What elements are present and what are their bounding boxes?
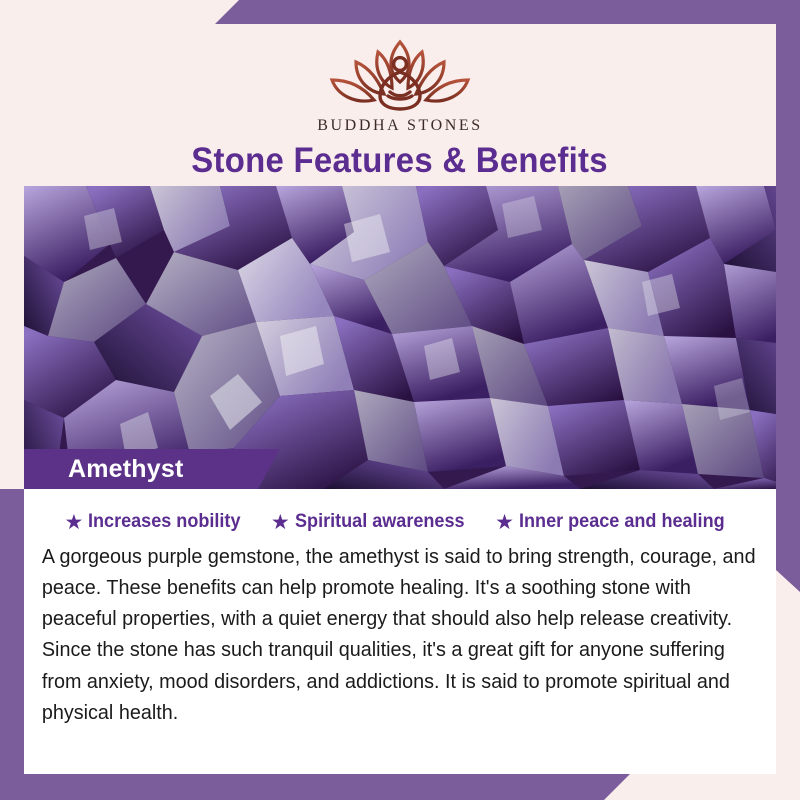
benefits-list: ★ Increases nobility ★ Spiritual awarene… [38,489,762,537]
frame-border-left [0,489,24,800]
stone-description: A gorgeous purple gemstone, the amethyst… [38,541,765,728]
frame-border-top [215,0,800,24]
benefit-item: ★ Spiritual awareness [271,511,473,533]
frame-border-right [776,0,800,592]
content-panel: ★ Increases nobility ★ Spiritual awarene… [24,489,776,774]
brand-logo: BUDDHA STONES [316,30,484,135]
infographic-page: Amethyst [0,0,800,800]
benefit-item: ★ Increases nobility [65,511,249,533]
lotus-meditation-icon [316,30,484,116]
benefit-label: Inner peace and healing [519,511,725,533]
star-icon: ★ [495,512,514,533]
page-title-bar: Stone Features & Benefits [24,141,776,181]
frame-border-bottom [0,774,630,800]
page-header: BUDDHA STONES Stone Features & Benefits [24,24,776,186]
page-title: Stone Features & Benefits [192,141,609,181]
amethyst-hero-image [24,186,800,489]
star-icon: ★ [65,512,84,533]
benefit-label: Spiritual awareness [295,511,465,533]
benefit-label: Increases nobility [88,511,240,533]
brand-name: BUDDHA STONES [317,117,483,135]
crystal-cluster-illustration [24,186,800,489]
star-icon: ★ [271,512,290,533]
stone-name-banner: Amethyst [24,449,280,489]
benefit-item: ★ Inner peace and healing [495,511,735,533]
stone-name-label: Amethyst [24,455,184,484]
